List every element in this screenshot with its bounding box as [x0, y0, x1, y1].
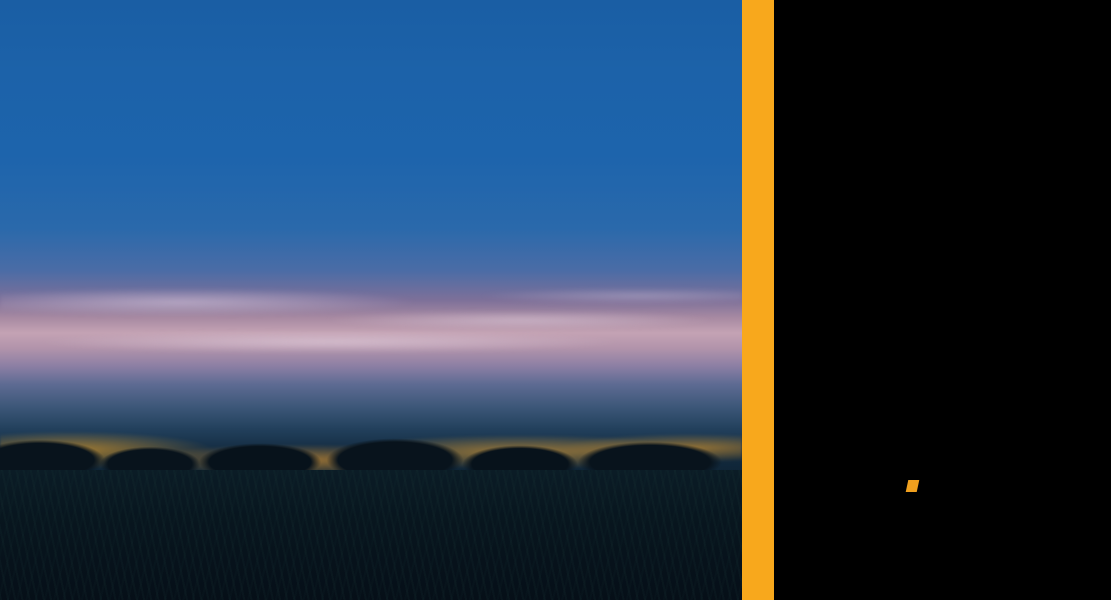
background-photo	[0, 0, 742, 600]
logo-accent-mark	[906, 480, 920, 492]
icon-network-overlay	[0, 0, 742, 600]
text-panel	[774, 0, 1111, 600]
poster-canvas	[0, 0, 1111, 600]
orange-divider-bar	[742, 0, 774, 600]
brand-logo	[774, 478, 1111, 578]
